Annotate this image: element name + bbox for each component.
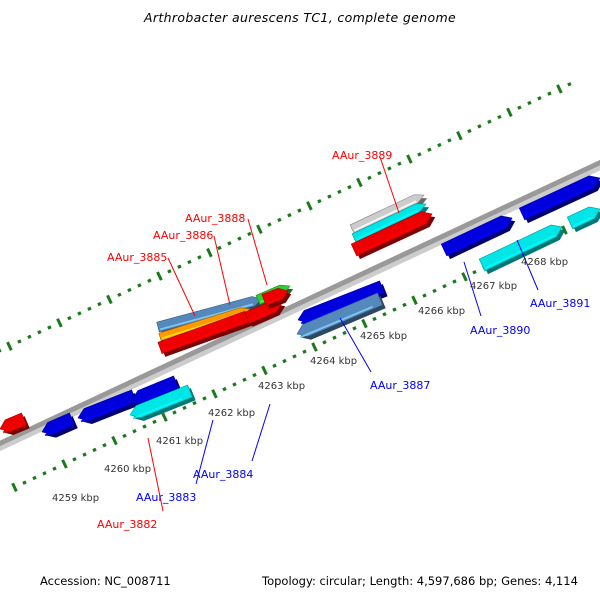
scale-minor-tick: [144, 425, 145, 428]
scale-minor-tick: [404, 303, 405, 306]
scale-minor-tick: [349, 186, 350, 189]
scale-minor-tick: [244, 378, 245, 381]
scale-minor-tick: [89, 307, 90, 310]
scale-major-tick: [158, 272, 162, 280]
scale-major-tick: [313, 343, 317, 351]
scale-minor-tick: [454, 280, 455, 283]
scale-minor-tick: [479, 125, 480, 128]
scale-minor-tick: [154, 420, 155, 423]
scale-minor-tick: [434, 289, 435, 292]
scale-minor-tick: [319, 200, 320, 203]
scale-label: 4262 kbp: [208, 408, 255, 419]
label-leader-line: [248, 219, 267, 285]
scale-minor-tick: [44, 472, 45, 475]
scale-minor-tick: [229, 242, 230, 245]
gene-label-aaur_3883[interactable]: AAur_3883: [136, 491, 196, 504]
genome-map-canvas[interactable]: [0, 0, 600, 600]
gene-label-aaur_3887[interactable]: AAur_3887: [370, 379, 430, 392]
gene-feature[interactable]: [567, 207, 600, 232]
scale-label: 4260 kbp: [104, 464, 151, 475]
status-bar: Accession: NC_008711 Topology: circular;…: [0, 564, 600, 600]
scale-minor-tick: [174, 411, 175, 414]
scale-major-tick: [108, 295, 112, 303]
scale-minor-tick: [24, 481, 25, 484]
scale-minor-tick: [529, 102, 530, 105]
scale-minor-tick: [299, 209, 300, 212]
scale-minor-tick: [354, 327, 355, 330]
scale-minor-tick: [399, 162, 400, 165]
scale-minor-tick: [74, 458, 75, 461]
gene-label-aaur_3882[interactable]: AAur_3882: [97, 518, 157, 531]
scale-minor-tick: [49, 326, 50, 329]
scale-minor-tick: [139, 284, 140, 287]
gene-label-aaur_3886[interactable]: AAur_3886: [153, 229, 213, 242]
scale-major-tick: [63, 460, 67, 468]
scale-minor-tick: [304, 350, 305, 353]
scale-minor-tick: [84, 453, 85, 456]
scale-minor-tick: [234, 383, 235, 386]
scale-minor-tick: [539, 97, 540, 100]
scale-minor-tick: [519, 106, 520, 109]
scale-major-tick: [258, 225, 262, 233]
scale-major-tick: [13, 483, 17, 491]
label-leader-line: [214, 236, 230, 305]
scale-major-tick: [308, 202, 312, 210]
scale-minor-tick: [239, 237, 240, 240]
scale-minor-tick: [474, 271, 475, 274]
scale-major-tick: [363, 320, 367, 328]
scale-minor-tick: [134, 430, 135, 433]
scale-major-tick: [208, 249, 212, 257]
scale-minor-tick: [79, 312, 80, 315]
scale-minor-tick: [269, 223, 270, 226]
scale-minor-tick: [129, 289, 130, 292]
scale-major-tick: [558, 85, 562, 93]
scale-minor-tick: [19, 340, 20, 343]
scale-minor-tick: [374, 317, 375, 320]
scale-minor-tick: [169, 270, 170, 273]
scale-minor-tick: [194, 402, 195, 405]
scale-label: 4266 kbp: [418, 306, 465, 317]
scale-minor-tick: [124, 434, 125, 437]
scale-major-tick: [358, 178, 362, 186]
scale-minor-tick: [379, 172, 380, 175]
gene-label-aaur_3889[interactable]: AAur_3889: [332, 149, 392, 162]
scale-minor-tick: [549, 92, 550, 95]
scale-minor-tick: [429, 148, 430, 151]
scale-label: 4259 kbp: [52, 493, 99, 504]
topology-text: Topology: circular; Length: 4,597,686 bp…: [262, 574, 578, 588]
scale-label: 4265 kbp: [360, 331, 407, 342]
scale-minor-tick: [294, 355, 295, 358]
scale-minor-tick: [204, 397, 205, 400]
scale-minor-tick: [279, 218, 280, 221]
scale-minor-tick: [419, 153, 420, 156]
scale-major-tick: [458, 132, 462, 140]
scale-major-tick: [213, 390, 217, 398]
scale-minor-tick: [324, 341, 325, 344]
scale-minor-tick: [389, 167, 390, 170]
scale-minor-tick: [329, 195, 330, 198]
scale-minor-tick: [184, 406, 185, 409]
scale-major-tick: [163, 413, 167, 421]
scale-minor-tick: [469, 130, 470, 133]
scale-minor-tick: [39, 331, 40, 334]
scale-minor-tick: [29, 335, 30, 338]
gene-label-aaur_3888[interactable]: AAur_3888: [185, 212, 245, 225]
scale-minor-tick: [34, 477, 35, 480]
scale-minor-tick: [394, 308, 395, 311]
gene-label-aaur_3891[interactable]: AAur_3891: [530, 297, 590, 310]
scale-label: 4261 kbp: [156, 436, 203, 447]
scale-minor-tick: [449, 139, 450, 142]
scale-minor-tick: [149, 279, 150, 282]
scale-label: 4268 kbp: [521, 257, 568, 268]
scale-minor-tick: [219, 247, 220, 250]
scale-major-tick: [8, 342, 12, 350]
scale-minor-tick: [489, 120, 490, 123]
scale-minor-tick: [99, 303, 100, 306]
scale-minor-tick: [189, 261, 190, 264]
scale-major-tick: [113, 436, 117, 444]
scale-minor-tick: [54, 467, 55, 470]
accession-text: Accession: NC_008711: [40, 574, 171, 588]
scale-minor-tick: [199, 256, 200, 259]
scale-minor-tick: [224, 388, 225, 391]
scale-major-tick: [413, 296, 417, 304]
scale-label: 4263 kbp: [258, 381, 305, 392]
scale-minor-tick: [69, 317, 70, 320]
scale-major-tick: [263, 366, 267, 374]
scale-minor-tick: [274, 364, 275, 367]
scale-minor-tick: [339, 190, 340, 193]
scale-minor-tick: [284, 360, 285, 363]
label-leader-line: [380, 157, 399, 213]
scale-major-tick: [463, 273, 467, 281]
scale-minor-tick: [439, 144, 440, 147]
scale-minor-tick: [179, 265, 180, 268]
scale-minor-tick: [444, 285, 445, 288]
genome-map-viewer[interactable]: Arthrobacter aurescens TC1, complete gen…: [0, 0, 600, 600]
gene-label-aaur_3890[interactable]: AAur_3890: [470, 324, 530, 337]
gene-label-aaur_3884[interactable]: AAur_3884: [193, 468, 253, 481]
scale-minor-tick: [334, 336, 335, 339]
scale-minor-tick: [254, 374, 255, 377]
scale-major-tick: [58, 319, 62, 327]
scale-minor-tick: [424, 294, 425, 297]
scale-major-tick: [508, 108, 512, 116]
scale-label: 4264 kbp: [310, 356, 357, 367]
scale-minor-tick: [289, 214, 290, 217]
gene-label-aaur_3885[interactable]: AAur_3885: [107, 251, 167, 264]
scale-label: 4267 kbp: [470, 281, 517, 292]
scale-minor-tick: [104, 444, 105, 447]
scale-minor-tick: [249, 232, 250, 235]
scale-minor-tick: [94, 448, 95, 451]
scale-minor-tick: [499, 116, 500, 119]
scale-major-tick: [408, 155, 412, 163]
label-leader-line: [168, 258, 195, 316]
scale-minor-tick: [369, 176, 370, 179]
scale-minor-tick: [569, 83, 570, 86]
scale-minor-tick: [119, 293, 120, 296]
scale-minor-tick: [344, 332, 345, 335]
scale-minor-tick: [384, 313, 385, 316]
